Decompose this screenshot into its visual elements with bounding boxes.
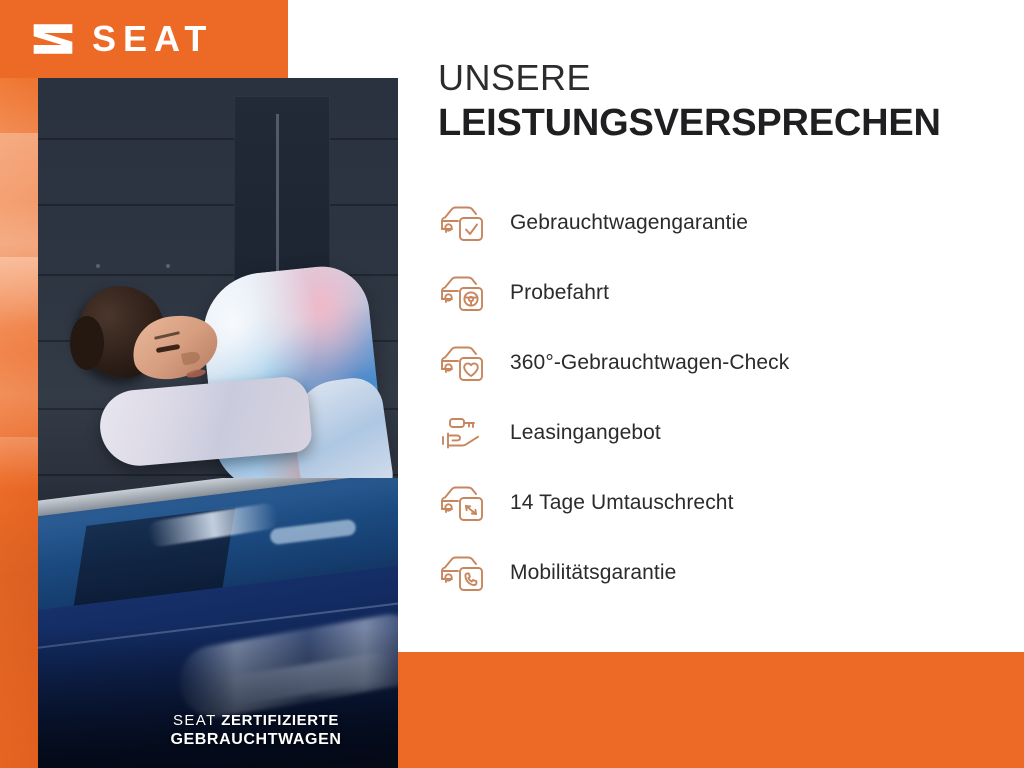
- content-panel: UNSERE LEISTUNGSVERSPRECHEN Gebrauchtwag…: [430, 0, 1024, 652]
- car-steering-wheel-icon: [438, 271, 490, 315]
- page-title: LEISTUNGSVERSPRECHEN: [438, 104, 941, 142]
- list-item[interactable]: Probefahrt: [438, 258, 1018, 328]
- list-item[interactable]: Gebrauchtwagengarantie: [438, 188, 1018, 258]
- bottom-orange-band: [398, 652, 1024, 768]
- list-item-label: Mobilitätsgarantie: [510, 561, 676, 585]
- seat-s-mark-icon: [30, 16, 76, 62]
- seat-logo[interactable]: SEAT: [30, 16, 213, 62]
- promo-banner: SEAT ZERTIFIZIERTE GEBRAUCHTWAGEN SEAT U…: [0, 0, 1024, 768]
- list-item[interactable]: 14 Tage Umtauschrecht: [438, 468, 1018, 538]
- car-exchange-icon: [438, 481, 490, 525]
- hero-photo: SEAT ZERTIFIZIERTE GEBRAUCHTWAGEN: [38, 78, 398, 768]
- benefits-list: Gebrauchtwagengarantie Probefahrt: [438, 188, 1018, 608]
- car-heart-icon: [438, 341, 490, 385]
- brand-header: SEAT: [0, 0, 288, 78]
- lockup-seat-word: SEAT: [173, 712, 217, 729]
- seat-wordmark: SEAT: [92, 21, 213, 57]
- strip-texture-a: [0, 133, 38, 202]
- list-item-label: 360°-Gebrauchtwagen-Check: [510, 351, 789, 375]
- car-check-icon: [438, 201, 490, 245]
- hand-car-key-icon: [438, 411, 490, 455]
- list-item[interactable]: 360°-Gebrauchtwagen-Check: [438, 328, 1018, 398]
- list-item-label: 14 Tage Umtauschrecht: [510, 491, 734, 515]
- list-item-label: Gebrauchtwagengarantie: [510, 211, 748, 235]
- list-item[interactable]: Mobilitätsgarantie: [438, 538, 1018, 608]
- heading-kicker: UNSERE: [438, 60, 591, 96]
- orange-edge-strip: [0, 78, 38, 768]
- photo-lockup: SEAT ZERTIFIZIERTE GEBRAUCHTWAGEN: [76, 712, 398, 750]
- strip-texture-b: [0, 257, 38, 354]
- strip-texture-c: [0, 437, 38, 492]
- lockup-zertifizierte-word: ZERTIFIZIERTE: [221, 712, 339, 729]
- list-item-label: Leasingangebot: [510, 421, 661, 445]
- list-item[interactable]: Leasingangebot: [438, 398, 1018, 468]
- list-item-label: Probefahrt: [510, 281, 609, 305]
- lockup-gebrauchtwagen-word: GEBRAUCHTWAGEN: [76, 731, 398, 750]
- car-phone-icon: [438, 551, 490, 595]
